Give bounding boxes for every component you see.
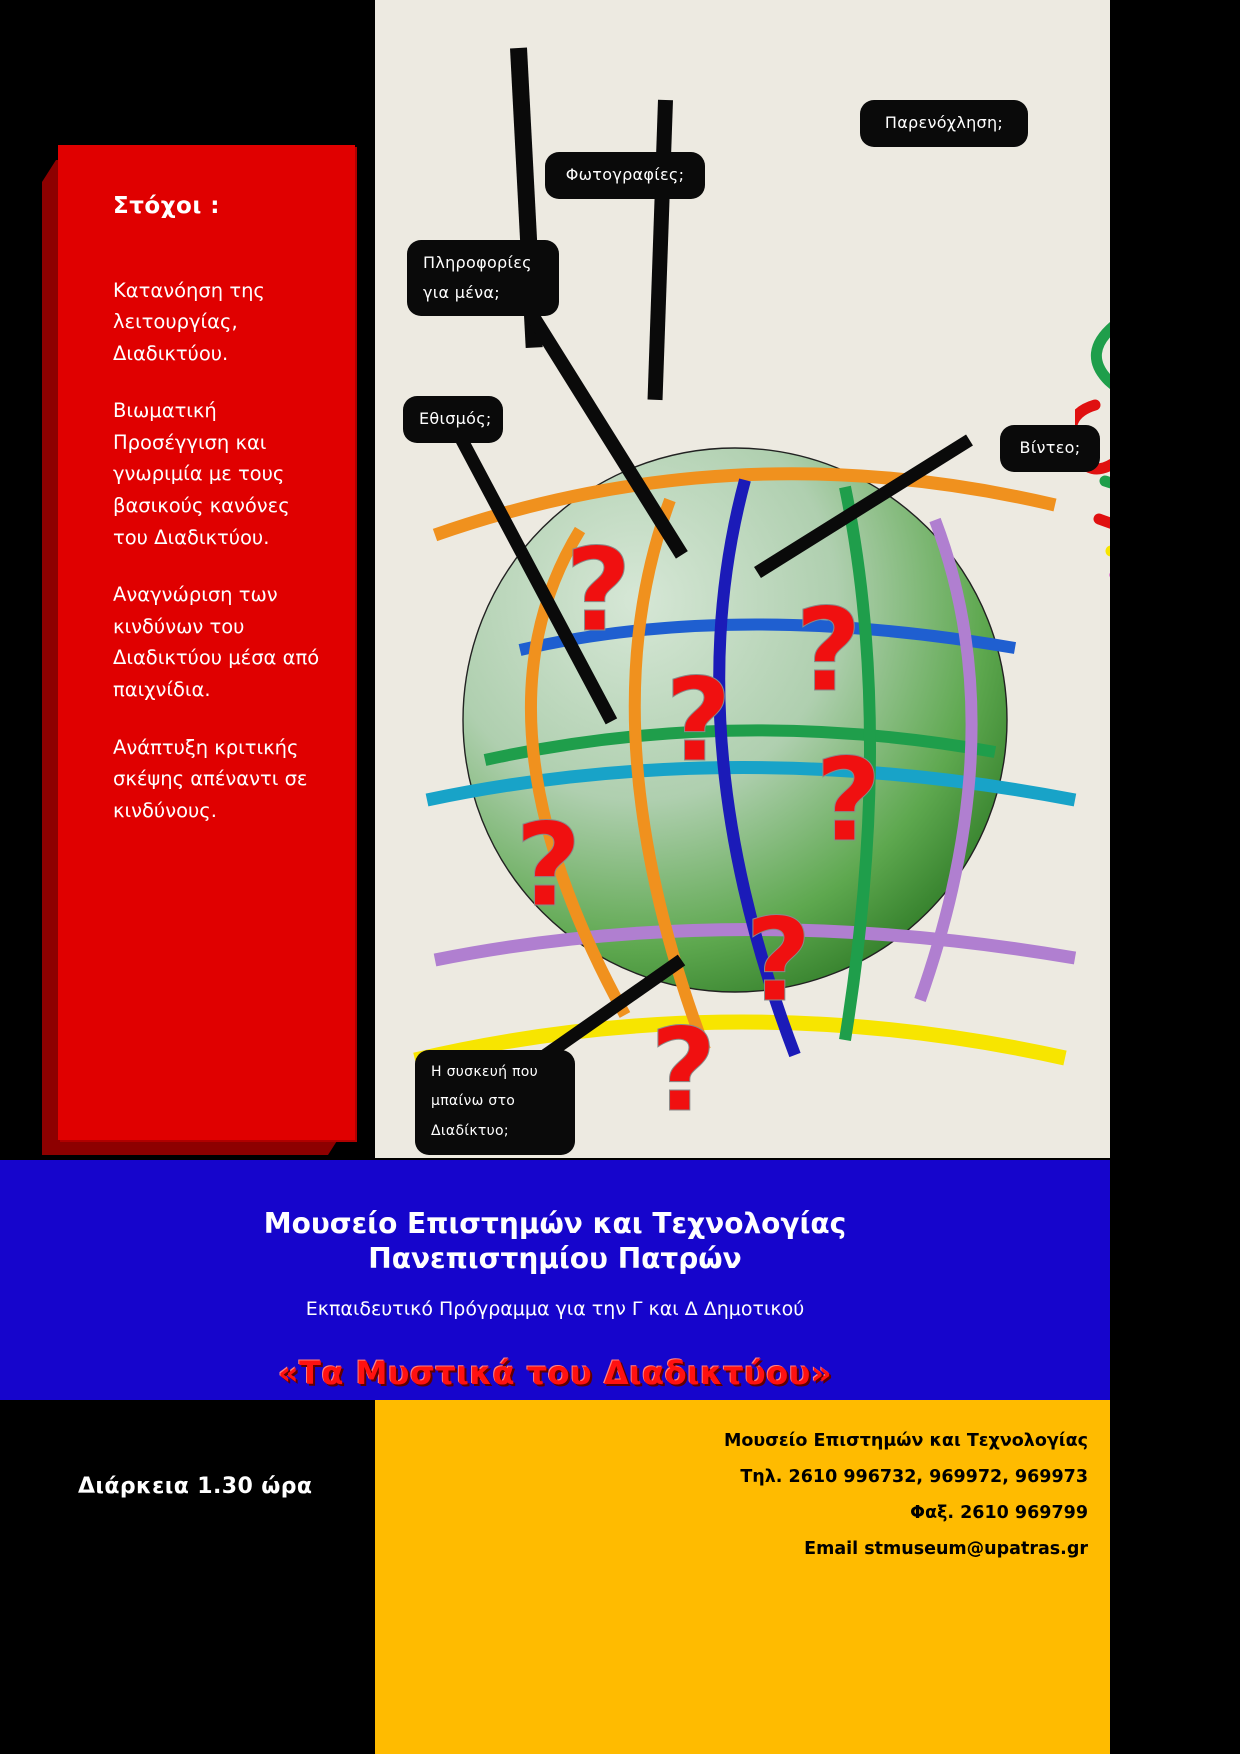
museum-name-line1: Μουσείο Επιστημών και Τεχνολογίας (0, 1160, 1110, 1241)
duration-label: Διάρκεια 1.30 ώρα (78, 1474, 312, 1499)
svg-text:?: ? (565, 524, 632, 658)
svg-text:?: ? (665, 654, 732, 788)
objective-item: Βιωματική Προσέγγιση και γνωριμία με του… (113, 395, 325, 553)
svg-text:?: ? (745, 894, 812, 1028)
objective-item: Αναγνώριση των κινδύνων του Διαδικτύου μ… (113, 579, 325, 705)
bubble-parenochlisi[interactable]: Παρενόχληση; (860, 100, 1028, 147)
objective-item: Κατανόηση της λειτουργίας, Διαδικτύου. (113, 275, 325, 370)
bubble-plirofories[interactable]: Πληροφορίες για μένα; (407, 240, 559, 316)
footer-black-area (0, 1400, 375, 1754)
program-subtitle: Εκπαιδευτικό Πρόγραμμα για την Γ και Δ Δ… (0, 1276, 1110, 1320)
contact-box: Μουσείο Επιστημών και Τεχνολογίας Τηλ. 2… (375, 1400, 1110, 1754)
bubble-ethismos[interactable]: Εθισμός; (403, 396, 503, 443)
museum-name-line2: Πανεπιστημίου Πατρών (0, 1241, 1110, 1276)
globe-illustration: ? ? ? ? ? ? ? (375, 0, 1110, 1160)
contact-line: Μουσείο Επιστημών και Τεχνολογίας (724, 1424, 1088, 1460)
svg-text:?: ? (650, 1004, 717, 1138)
svg-text:?: ? (795, 584, 862, 718)
banner-right-black-margin (1110, 1160, 1240, 1754)
right-black-margin (1110, 0, 1240, 1160)
poster-root: ? ? ? ? ? ? ? (0, 0, 1240, 1754)
svg-text:?: ? (515, 799, 582, 933)
svg-text:?: ? (815, 734, 882, 868)
bubble-syskevi[interactable]: Η συσκευή που μπαίνω στο Διαδίκτυο; (415, 1050, 575, 1155)
blue-banner: Μουσείο Επιστημών και Τεχνολογίας Πανεπι… (0, 1160, 1110, 1400)
bubble-video[interactable]: Βίντεο; (1000, 425, 1100, 472)
objectives-title: Στόχοι : (113, 193, 325, 221)
program-title: «Τα Μυστικά του Διαδικτύου» (0, 1320, 1110, 1392)
bubble-fotografies[interactable]: Φωτογραφίες; (545, 152, 705, 199)
contact-line: Φαξ. 2610 969799 (724, 1496, 1088, 1532)
contact-line: Τηλ. 2610 996732, 969972, 969973 (724, 1460, 1088, 1496)
contact-line-email: Email stmuseum@upatras.gr (724, 1532, 1088, 1568)
artwork-panel: ? ? ? ? ? ? ? (375, 0, 1110, 1160)
contact-details: Μουσείο Επιστημών και Τεχνολογίας Τηλ. 2… (724, 1424, 1088, 1568)
objective-item: Ανάπτυξη κριτικής σκέψης απέναντι σε κιν… (113, 732, 325, 827)
objectives-panel: Στόχοι : Κατανόηση της λειτουργίας, Διαδ… (58, 145, 355, 1140)
